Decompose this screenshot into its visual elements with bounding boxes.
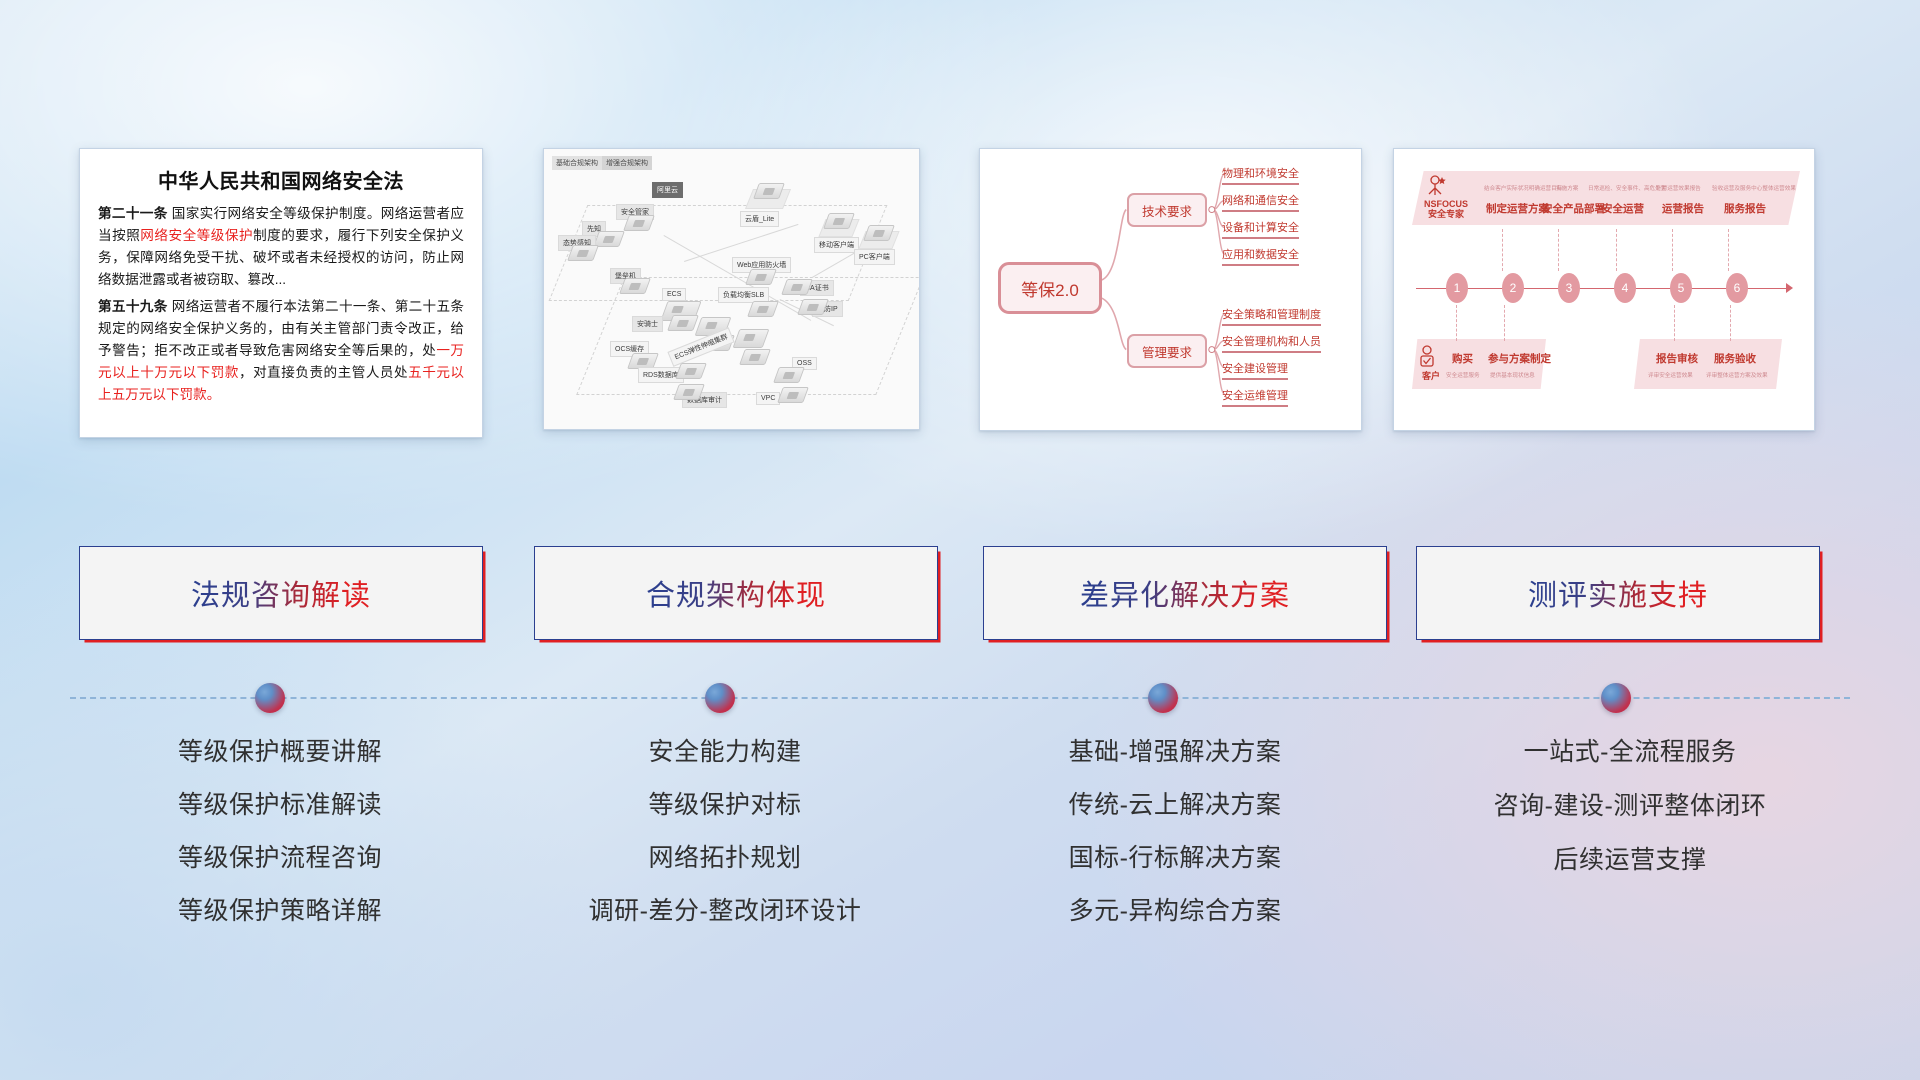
mindmap-branch-technical: 技术要求 (1127, 193, 1207, 227)
top-step-3-sub: 日常巡检、安全事件、高危处置 (1588, 184, 1666, 192)
list-item: 安全能力构建 (500, 740, 950, 765)
arch-label-anqishi: 安骑士 (632, 316, 663, 332)
timeline-node-5[interactable]: 5 (1670, 273, 1692, 303)
top-step-5-sub: 验收运营及服务中心整体运营效果 (1712, 184, 1796, 192)
list-item: 基础-增强解决方案 (950, 740, 1400, 765)
article-59-label: 第五十九条 (98, 299, 168, 314)
mindmap-leaf-physical-env: 物理和环境安全 (1222, 165, 1299, 185)
architecture-diagram: 基础合规架构 增强合规架构 阿里云 安全管家 先知 态势感知 堡垒机 (544, 149, 919, 429)
bottom-step-4-sub: 评审整体运营方案及效果 (1706, 371, 1768, 379)
heading-label-2: 合规架构体现 (646, 572, 826, 614)
rail-node-1[interactable] (255, 683, 285, 713)
law-article-21: 第二十一条 国家实行网络安全等级保护制度。网络运营者应当按照网络安全等级保护制度… (98, 203, 464, 291)
list-item: 等级保护流程咨询 (60, 846, 500, 871)
top-step-5-label: 服务报告 (1724, 201, 1766, 216)
top-step-4-sub: 针对运营效果报告 (1656, 184, 1701, 192)
timeline-node-6[interactable]: 6 (1726, 273, 1748, 303)
arch-label-vpc: VPC (756, 392, 780, 405)
bottom-step-1-label: 购买 (1452, 351, 1473, 366)
heading-box-compliance-architecture[interactable]: 合规架构体现 (534, 546, 938, 640)
timeline-tick-b2 (1504, 305, 1505, 341)
mindmap-leaf-construction-mgmt: 安全建设管理 (1222, 360, 1288, 380)
expert-title: 安全专家 (1416, 209, 1476, 219)
top-step-2-sub: 实施方案 (1556, 184, 1578, 192)
timeline-tick-b6 (1730, 305, 1731, 341)
list-item: 网络拓扑规划 (500, 846, 950, 871)
heading-box-regulation-consulting[interactable]: 法规咨询解读 (79, 546, 483, 640)
detail-column-1: 等级保护概要讲解 等级保护标准解读 等级保护流程咨询 等级保护策略详解 (60, 740, 500, 952)
mindmap-leaf-app-data: 应用和数据安全 (1222, 246, 1299, 266)
mindmap-root: 等保2.0 (998, 262, 1102, 314)
heading-box-assessment-support[interactable]: 测评实施支持 (1416, 546, 1820, 640)
timeline-node-4[interactable]: 4 (1614, 273, 1636, 303)
top-step-3-label: 安全运营 (1602, 201, 1644, 216)
mindmap-diagram: 等保2.0 技术要求 物理和环境安全 网络和通信安全 设备和计算安全 应用和数据… (980, 149, 1361, 430)
bottom-step-1-sub: 安全运营服务 (1446, 371, 1480, 379)
arch-label-ecs: ECS (662, 288, 686, 301)
expert-person-icon (1426, 175, 1448, 201)
heading-row: 法规咨询解读 合规架构体现 差异化解决方案 测评实施支持 (0, 546, 1920, 646)
list-item: 后续运营支撑 (1400, 848, 1860, 873)
timeline-tick-6 (1728, 229, 1729, 271)
expert-role-label: NSFOCUS 安全专家 (1416, 199, 1476, 220)
arch-node-vpc (777, 387, 809, 403)
service-timeline-diagram: NSFOCUS 安全专家 结合客户实际状况明确运营目标 制定运营方案 实施方案 … (1394, 149, 1814, 430)
arch-label-pc-client: PC客户端 (854, 249, 895, 265)
timeline-tick-5 (1672, 229, 1673, 271)
timeline-node-1[interactable]: 1 (1446, 273, 1468, 303)
list-item: 传统-云上解决方案 (950, 793, 1400, 818)
heading-label-4: 测评实施支持 (1528, 572, 1708, 614)
article-59-text-b: ，对直接负责的主管人员处 (239, 365, 408, 380)
rail-node-3[interactable] (1148, 683, 1178, 713)
law-article-59: 第五十九条 网络运营者不履行本法第二十一条、第二十五条规定的网络安全保护义务的，… (98, 296, 464, 406)
bottom-step-2-label: 参与方案制定 (1488, 351, 1551, 366)
mindmap-leaf-org-personnel: 安全管理机构和人员 (1222, 333, 1321, 353)
timeline-node-3[interactable]: 3 (1558, 273, 1580, 303)
law-title: 中华人民共和国网络安全法 (98, 165, 464, 194)
card-dengbao-mindmap[interactable]: 等保2.0 技术要求 物理和环境安全 网络和通信安全 设备和计算安全 应用和数据… (979, 148, 1362, 431)
slide-canvas: 中华人民共和国网络安全法 第二十一条 国家实行网络安全等级保护制度。网络运营者应… (0, 0, 1920, 1080)
mindmap-branch-management: 管理要求 (1127, 334, 1207, 368)
detail-column-4: 一站式-全流程服务 咨询-建设-测评整体闭环 后续运营支撑 (1400, 740, 1860, 902)
timeline-node-2[interactable]: 2 (1502, 273, 1524, 303)
expert-name: NSFOCUS (1416, 199, 1476, 209)
bottom-step-3-label: 报告审核 (1656, 351, 1698, 366)
mindmap-leaf-ops-mgmt: 安全运维管理 (1222, 387, 1288, 407)
list-item: 多元-异构综合方案 (950, 899, 1400, 924)
card-cloud-architecture[interactable]: 基础合规架构 增强合规架构 阿里云 安全管家 先知 态势感知 堡垒机 (543, 148, 920, 430)
arch-tab-enhanced: 增强合规架构 (602, 156, 652, 170)
arch-label-aliyun: 阿里云 (652, 182, 683, 198)
bottom-step-4-label: 服务验收 (1714, 351, 1756, 366)
timeline-arrow-icon (1786, 283, 1793, 293)
list-item: 等级保护策略详解 (60, 899, 500, 924)
arch-label-mobile-client: 移动客户端 (814, 237, 859, 253)
preview-card-row: 中华人民共和国网络安全法 第二十一条 国家实行网络安全等级保护制度。网络运营者应… (0, 148, 1920, 448)
customer-person-icon (1418, 345, 1440, 371)
list-item: 等级保护概要讲解 (60, 740, 500, 765)
mindmap-leaf-device-compute: 设备和计算安全 (1222, 219, 1299, 239)
article-21-highlight: 网络安全等级保护 (140, 228, 253, 243)
rail-node-2[interactable] (705, 683, 735, 713)
timeline-tick-3 (1558, 229, 1559, 271)
article-21-label: 第二十一条 (98, 206, 168, 221)
mindmap-leaf-network-comm: 网络和通信安全 (1222, 192, 1299, 212)
bottom-step-2-sub: 提供基本现状信息 (1490, 371, 1535, 379)
top-step-1-sub: 结合客户实际状况明确运营目标 (1484, 184, 1562, 192)
top-step-4-label: 运营报告 (1662, 201, 1704, 216)
top-step-1-label: 制定运营方案 (1486, 201, 1549, 216)
mindmap-leaf-policy-system: 安全策略和管理制度 (1222, 306, 1321, 326)
list-item: 调研-差分-整改闭环设计 (500, 899, 950, 924)
detail-column-3: 基础-增强解决方案 传统-云上解决方案 国标-行标解决方案 多元-异构综合方案 (950, 740, 1400, 952)
bottom-step-3-sub: 评审安全运营效果 (1648, 371, 1693, 379)
heading-label-1: 法规咨询解读 (191, 572, 371, 614)
list-item: 一站式-全流程服务 (1400, 740, 1860, 765)
rail-node-4[interactable] (1601, 683, 1631, 713)
heading-label-3: 差异化解决方案 (1080, 572, 1290, 614)
heading-box-differentiated-solution[interactable]: 差异化解决方案 (983, 546, 1387, 640)
timeline-tick-4 (1616, 229, 1617, 271)
top-step-2-label: 安全产品部署 (1542, 201, 1605, 216)
arch-label-cloudshield-lite: 云盾_Lite (740, 211, 779, 227)
list-item: 等级保护标准解读 (60, 793, 500, 818)
timeline-rail (70, 697, 1850, 699)
list-item: 国标-行标解决方案 (950, 846, 1400, 871)
timeline-tick-2 (1502, 229, 1503, 271)
customer-role-label: 客户 (1414, 371, 1448, 381)
list-item: 等级保护对标 (500, 793, 950, 818)
detail-column-2: 安全能力构建 等级保护对标 网络拓扑规划 调研-差分-整改闭环设计 (500, 740, 950, 952)
arch-tab-basic: 基础合规架构 (552, 156, 602, 170)
timeline-tick-b1 (1456, 305, 1457, 341)
timeline-tick-b5 (1674, 305, 1675, 341)
card-nsfocus-timeline[interactable]: NSFOCUS 安全专家 结合客户实际状况明确运营目标 制定运营方案 实施方案 … (1393, 148, 1815, 431)
list-item: 咨询-建设-测评整体闭环 (1400, 794, 1860, 819)
card-cybersecurity-law[interactable]: 中华人民共和国网络安全法 第二十一条 国家实行网络安全等级保护制度。网络运营者应… (79, 148, 483, 438)
